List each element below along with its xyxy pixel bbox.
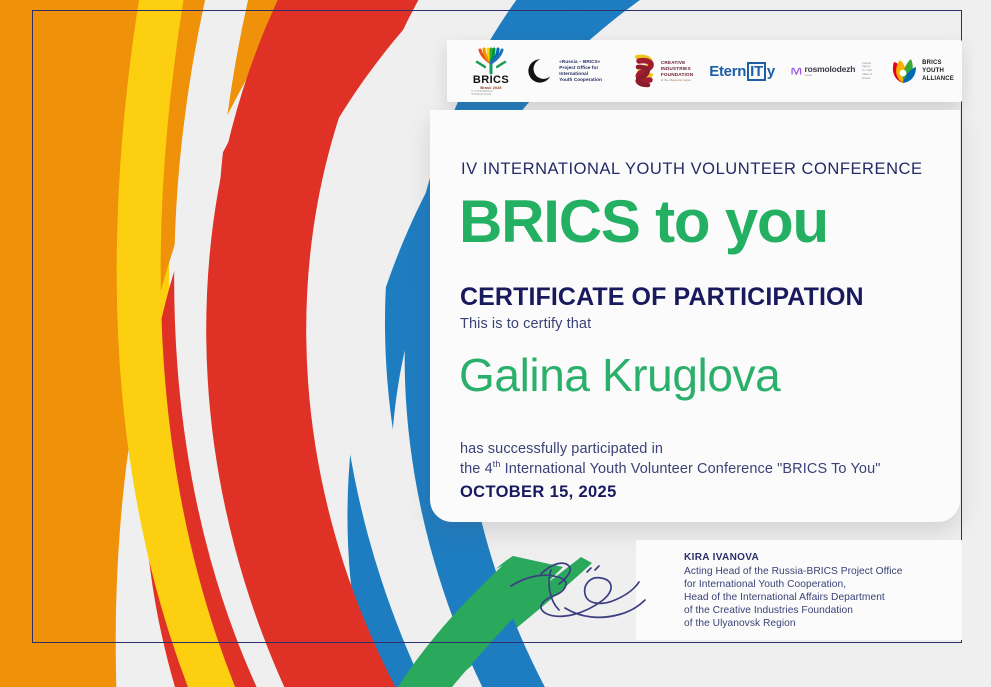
handwritten-signature <box>505 548 655 633</box>
participation-line-2: the 4th International Youth Volunteer Co… <box>460 459 880 479</box>
bya-line-1: BRICS <box>922 59 954 67</box>
recipient-name: Galina Kruglova <box>459 352 780 398</box>
eternity-word-b: IT <box>747 62 766 81</box>
project-office-line-3: Youth Cooperation <box>559 77 613 83</box>
brics-youth-alliance-logo: BRICS YOUTH ALLIANCE <box>889 56 954 86</box>
participation-text: has successfully participated in the 4th… <box>460 440 880 479</box>
partner-logo-strip: BRICS Brasil 2025 IV CONFERENCIA INTERNA… <box>447 40 962 102</box>
conference-subtitle: IV INTERNATIONAL YOUTH VOLUNTEER CONFERE… <box>461 160 923 179</box>
certificate-canvas: BRICS Brasil 2025 IV CONFERENCIA INTERNA… <box>0 0 991 687</box>
russia-brics-project-office-logo: «Russia – BRICS» Project Office for Inte… <box>527 54 613 88</box>
participation-line-2-post: International Youth Volunteer Conference… <box>500 461 880 477</box>
signatory-role: Acting Head of the Russia-BRICS Project … <box>684 565 902 630</box>
event-date: OCTOBER 15, 2025 <box>460 483 617 502</box>
project-office-line-2: Project Office for International <box>559 65 613 77</box>
ministry-line-1: Federal Agency <box>862 62 875 70</box>
signatory-role-line-1: Acting Head of the Russia-BRICS Project … <box>684 565 902 578</box>
brics-tagline: IV CONFERENCIA INTERNACIONAL <box>471 90 511 96</box>
cif-swirl-icon <box>631 53 657 89</box>
participation-line-1: has successfully participated in <box>460 440 880 459</box>
brics-tree-icon <box>471 47 511 75</box>
brics-brasil-logo: BRICS Brasil 2025 IV CONFERENCIA INTERNA… <box>471 47 511 96</box>
rosmolodezh-logo: rosmolodezh russia Federal Agency for Yo… <box>791 62 875 81</box>
signatory-role-line-5: of the Ulyanovsk Region <box>684 617 902 630</box>
bya-line-2: YOUTH <box>922 67 954 75</box>
signatory-role-line-3: Head of the International Affairs Depart… <box>684 591 902 604</box>
creative-industries-foundation-logo: CREATIVE INDUSTRIES FOUNDATION of the Ul… <box>631 53 693 89</box>
crescent-ring-icon <box>527 54 553 88</box>
brics-wordmark: BRICS <box>473 75 509 86</box>
bya-line-3: ALLIANCE <box>922 75 954 83</box>
rosmolodezh-wordmark: rosmolodezh <box>805 65 856 74</box>
rosmolodezh-sub: russia <box>805 74 856 77</box>
signatory-role-line-4: of the Creative Industries Foundation <box>684 604 902 617</box>
bya-leaf-icon <box>889 56 917 86</box>
signatory-name: KIRA IVANOVA <box>684 552 759 563</box>
cif-region: of the Ulyanovsk region <box>661 78 693 82</box>
signatory-role-line-2: for International Youth Cooperation, <box>684 578 902 591</box>
eternity-logo: EternITy <box>709 62 775 81</box>
ministry-line-3: Affairs of Russia <box>862 73 875 81</box>
eternity-word-c: y <box>767 64 775 79</box>
certificate-heading: CERTIFICATE OF PARTICIPATION <box>460 283 864 312</box>
certify-line: This is to certify that <box>460 316 591 332</box>
rosmolodezh-m-icon <box>791 64 802 79</box>
participation-line-2-pre: the 4 <box>460 461 493 477</box>
page-title: BRICS to you <box>459 192 828 252</box>
eternity-word-a: Etern <box>709 64 746 79</box>
